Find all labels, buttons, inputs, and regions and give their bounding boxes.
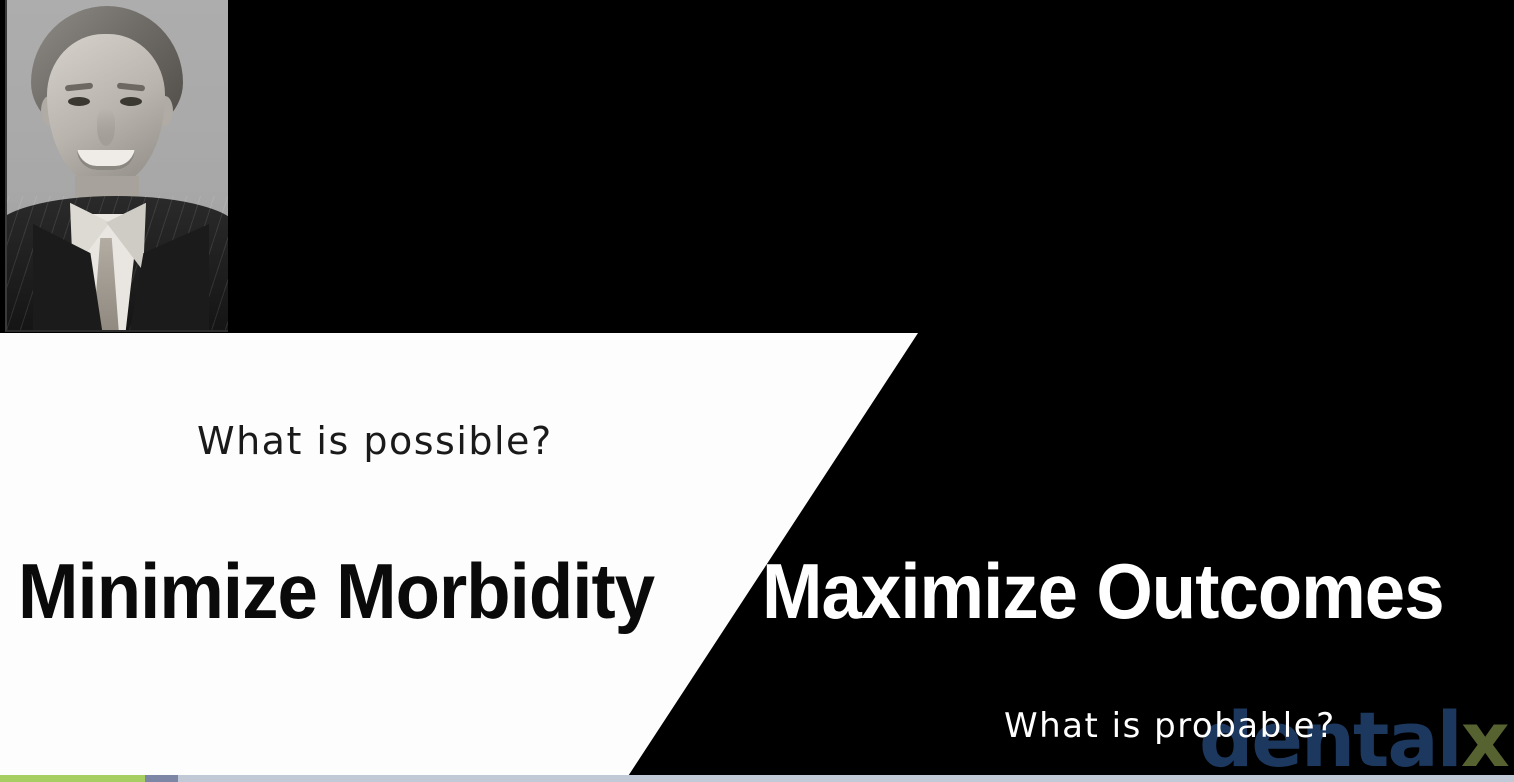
question-what-is-probable: What is probable? <box>1004 706 1336 746</box>
presentation-slide: What is possible? Minimize Morbidity Max… <box>0 0 1514 782</box>
headline-maximize-outcomes: Maximize Outcomes <box>762 552 1444 630</box>
presenter-headshot <box>5 0 228 332</box>
video-progress-handle[interactable] <box>145 775 178 782</box>
eye-left <box>68 97 90 106</box>
video-progress-fill <box>0 775 145 782</box>
eye-right <box>120 97 142 106</box>
nose <box>97 108 115 146</box>
watermark-xp-text: xp <box>1461 695 1514 782</box>
headline-minimize-morbidity: Minimize Morbidity <box>18 552 654 630</box>
question-what-is-possible: What is possible? <box>197 419 553 463</box>
video-progress-bar[interactable] <box>0 775 1514 782</box>
